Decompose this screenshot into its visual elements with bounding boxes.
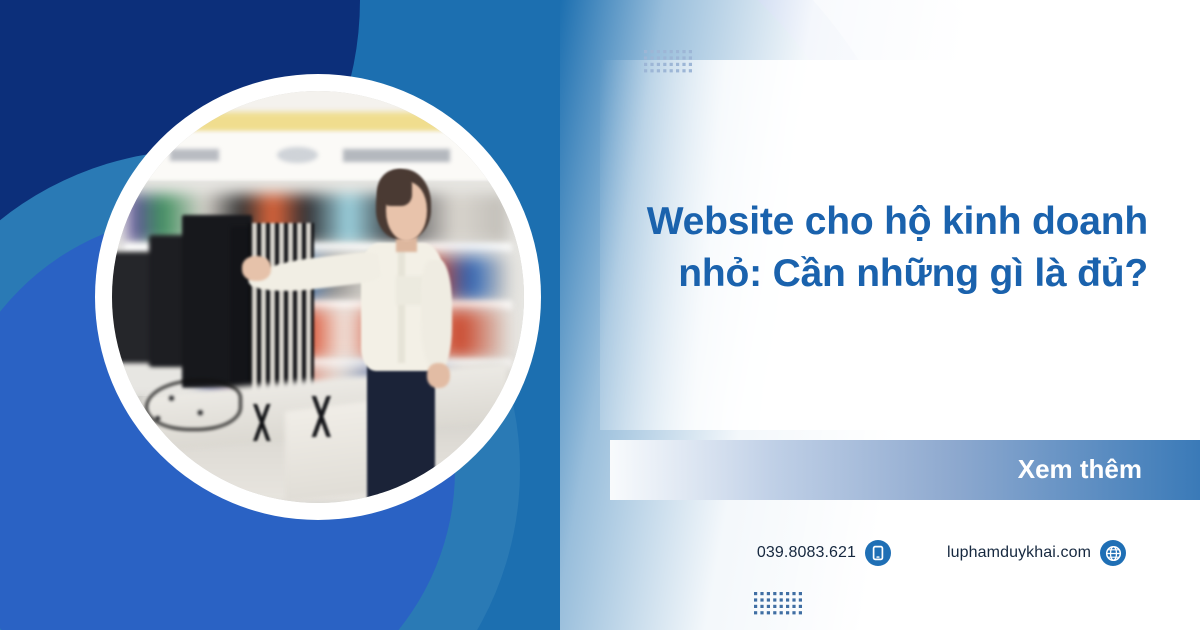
headline: Website cho hộ kinh doanh nhỏ: Cần những… xyxy=(448,196,1148,301)
photo-sign-text-right xyxy=(343,149,450,162)
headline-line-1: Website cho hộ kinh doanh xyxy=(448,196,1148,248)
photo-sign-logo xyxy=(277,147,318,163)
cta-label[interactable]: Xem thêm xyxy=(1018,454,1142,485)
photo-woman-shirt-placket xyxy=(398,248,405,363)
dot-grid-bottom-icon xyxy=(754,592,802,620)
photo-woman-right-hand xyxy=(427,363,450,388)
banner-canvas: Website cho hộ kinh doanh nhỏ: Cần những… xyxy=(0,0,1200,630)
headline-line-2: nhỏ: Cần những gì là đủ? xyxy=(448,248,1148,300)
photo-cable-loop xyxy=(145,379,242,430)
contact-row: 039.8083.621 luphamduykhai.com xyxy=(757,540,1126,566)
contact-phone-text: 039.8083.621 xyxy=(757,544,856,562)
photo-woman-left-hand xyxy=(242,256,271,281)
photo-yellow-banner xyxy=(170,112,475,133)
photo-sign-text-left xyxy=(170,149,219,161)
contact-website-text: luphamduykhai.com xyxy=(947,544,1091,562)
globe-icon xyxy=(1100,540,1126,566)
photo-tv-stand-b xyxy=(293,396,351,437)
contact-website[interactable]: luphamduykhai.com xyxy=(947,540,1126,566)
dot-grid-top-icon xyxy=(644,50,692,78)
photo-woman-trousers xyxy=(367,355,435,503)
mobile-phone-icon xyxy=(865,540,891,566)
photo-woman-hair-front xyxy=(377,169,412,206)
contact-phone[interactable]: 039.8083.621 xyxy=(757,540,891,566)
photo-tv-stand-a xyxy=(236,404,290,441)
